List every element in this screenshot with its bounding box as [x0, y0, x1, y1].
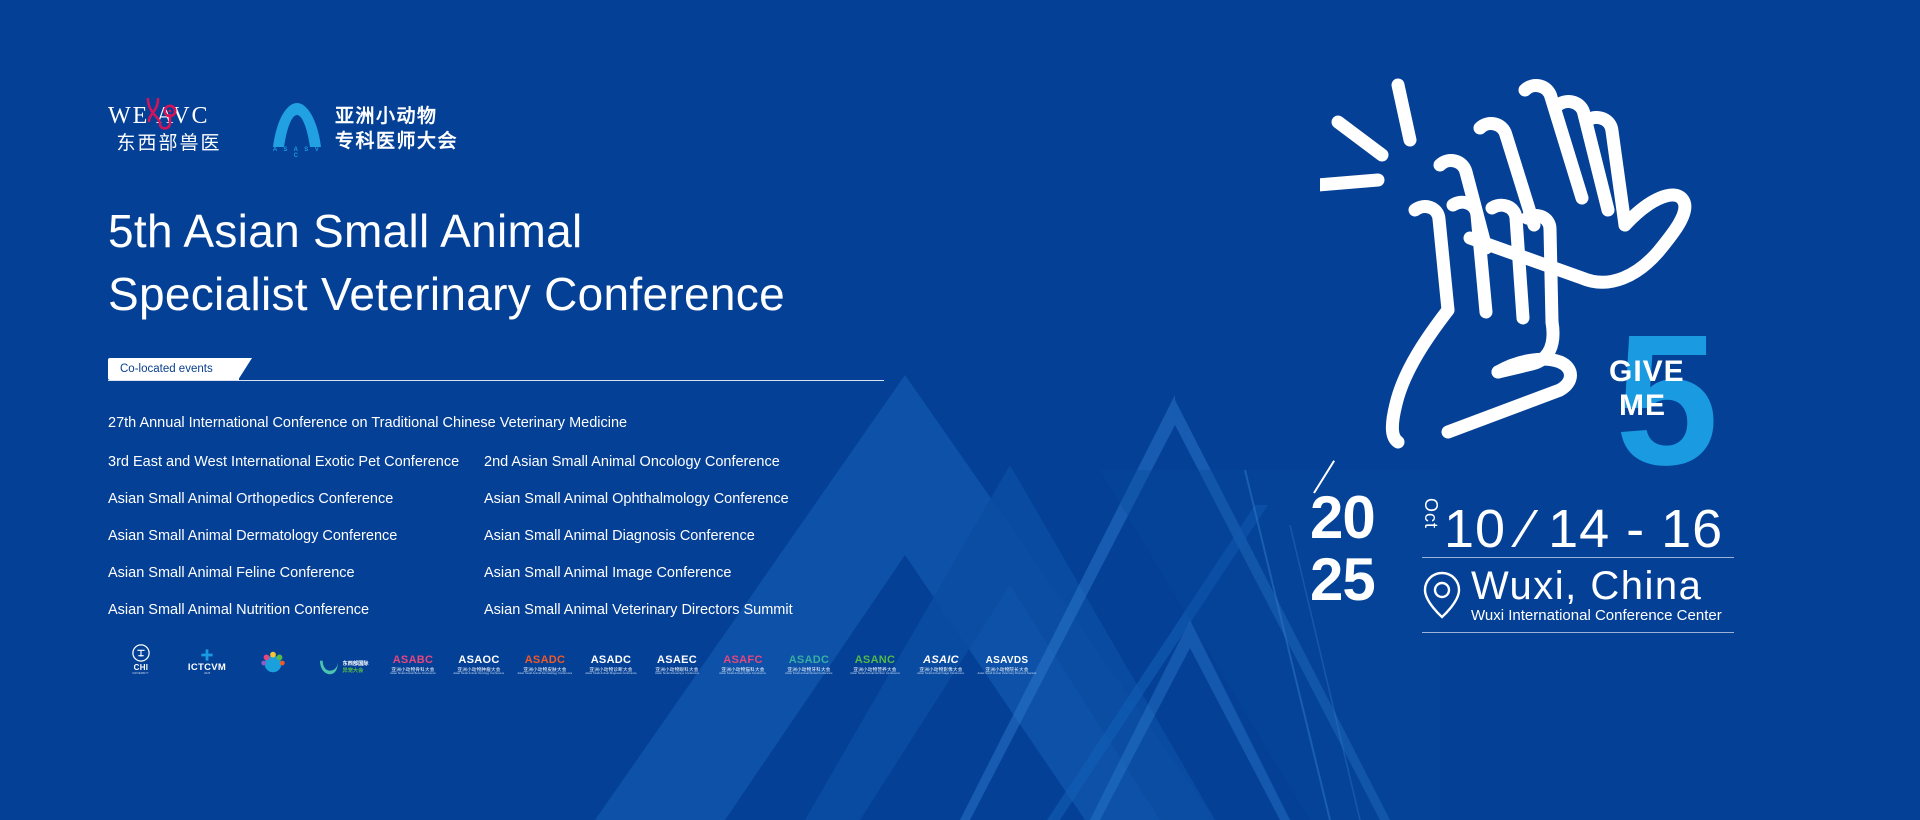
partner-acronym: ASANC [855, 655, 896, 666]
chi-seal-icon [132, 644, 150, 662]
partner-logo-asavds[interactable]: ASAVDS 亚洲小动物院长大会 Asian Small Animal Vete… [974, 640, 1040, 676]
tab-notch-shape [238, 358, 252, 380]
partner-acronym: ASAVDS [986, 656, 1029, 666]
me-text: ME [1605, 390, 1735, 422]
partner-en: Asian Small Animal Dermatology Conferenc… [518, 673, 573, 676]
partner-logo-row: CHI UNIVERSITY ICTCVM 2025 [108, 640, 1040, 676]
partner-en: Asian Small Animal Nutrition Conference [850, 673, 900, 676]
wesavc-wordmark-row: WE AVC [108, 101, 230, 131]
colocated-header: Co-located events [108, 358, 884, 390]
wesavc-chinese-name: 东西部兽医 [108, 131, 230, 157]
conference-item[interactable]: Asian Small Animal Diagnosis Conference [484, 526, 898, 563]
partner-en: Asian Small Animal Bone Conference [390, 673, 436, 676]
partner-acronym: ASABC [393, 655, 434, 666]
partner-acronym: ASAOC [458, 655, 499, 666]
partner-logo-asaec[interactable]: ASAEC 亚洲小动物眼科大会 Asian Small Animal Eye C… [644, 640, 710, 676]
title-line-1: 5th Asian Small Animal [108, 200, 785, 263]
partner-logo-asadc-derm[interactable]: ASADC 亚洲小动物皮肤大会 Asian Small Animal Derma… [512, 640, 578, 676]
conference-item[interactable]: Asian Small Animal Feline Conference [108, 563, 484, 600]
partner-en: Asian Small Animal Image Conference [918, 673, 965, 676]
conference-item[interactable]: Asian Small Animal Dermatology Conferenc… [108, 526, 484, 563]
partner-logo-asanc[interactable]: ASANC 亚洲小动物营养大会 Asian Small Animal Nutri… [842, 640, 908, 676]
partner-logo-asadc-dental[interactable]: ASADC 亚洲小动物牙科大会 Asian Small Animal Denta… [776, 640, 842, 676]
colocated-divider [108, 380, 884, 381]
partner-en: Asian Small Animal Feline Conference [720, 673, 767, 676]
wesavc-logo[interactable]: WE AVC 东西部兽医 [108, 101, 230, 157]
partner-en: Asian Small Animal Oncology Conference [454, 673, 505, 676]
give-text: GIVE [1605, 356, 1735, 388]
page-title: 5th Asian Small Animal Specialist Veteri… [108, 200, 785, 326]
partner-en: Asian Small Animal Dental Conference [785, 673, 832, 676]
colocated-tab-label: Co-located events [120, 358, 213, 380]
conference-item[interactable]: Asian Small Animal Orthopedics Conferenc… [108, 489, 484, 526]
partner-logo-asafc[interactable]: ASAFC 亚洲小动物猫科大会 Asian Small Animal Felin… [710, 640, 776, 676]
colorful-paw-circle-icon [260, 650, 286, 676]
partner-acronym: ASADC [789, 655, 830, 666]
list-item: Asian Small Animal Orthopedics Conferenc… [108, 489, 898, 526]
partner-acronym: ASADC [525, 655, 566, 666]
ictcvm-cross-icon [200, 648, 214, 662]
partner-subtitle: UNIVERSITY [133, 673, 149, 676]
conference-item[interactable]: Asian Small Animal Image Conference [484, 563, 898, 600]
partner-logo-ictcvm[interactable]: ICTCVM 2025 [174, 640, 240, 676]
list-item: 3rd East and West International Exotic P… [108, 452, 898, 489]
conference-list: 3rd East and West International Exotic P… [108, 452, 898, 637]
partner-logo-asabc[interactable]: ASABC 亚洲小动物骨科大会 Asian Small Animal Bone … [380, 640, 446, 676]
partner-acronym: ICTCVM [188, 663, 226, 673]
partner-cn-1: 东西部国际 [343, 660, 369, 667]
partner-year: 2025 [204, 673, 210, 676]
v-swoosh-icon [318, 658, 340, 676]
conference-item[interactable]: Asian Small Animal Veterinary Directors … [484, 600, 898, 637]
asasvc-mark-wrap: A S A S V C [270, 100, 324, 158]
partner-logo-paw[interactable] [240, 640, 306, 676]
partner-acronym: ASAEC [657, 655, 697, 666]
partner-en: Asian Small Animal Veterinary Directors … [978, 673, 1037, 676]
asasvc-mark-subtext: A S A S V C [270, 147, 324, 159]
partner-logo-exotic-pet[interactable]: 东西部国际 异宠大会 [306, 640, 380, 676]
give-me-5-badge: 5 GIVE ME [1605, 300, 1735, 480]
partner-en: Asian Small Animal Diagnosis Conference [585, 673, 636, 676]
partner-logo-asaic[interactable]: ASAIC 亚洲小动物影像大会 Asian Small Animal Image… [908, 640, 974, 676]
partner-acronym: ASADC [591, 655, 632, 666]
stethoscope-icon [141, 93, 183, 133]
list-item: Asian Small Animal Dermatology Conferenc… [108, 526, 898, 563]
partner-acronym: ASAFC [723, 655, 762, 666]
partner-acronym: ASAIC [923, 655, 959, 666]
partner-logo-asaoc[interactable]: ASAOC 亚洲小动物肿瘤大会 Asian Small Animal Oncol… [446, 640, 512, 676]
arch-a-mark-icon [270, 100, 324, 150]
asasvc-chinese-line1: 亚洲小动物 [335, 104, 458, 129]
list-item: Asian Small Animal Nutrition Conference … [108, 600, 898, 637]
list-item: Asian Small Animal Feline Conference Asi… [108, 563, 898, 600]
partner-acronym: CHI [134, 664, 149, 672]
colocated-tab[interactable]: Co-located events [108, 358, 239, 380]
left-content-column: WE AVC 东西部兽医 A S A S V C 亚洲小动物 专科医师大会 [108, 0, 1008, 820]
conference-featured-item[interactable]: 27th Annual International Conference on … [108, 413, 627, 433]
conference-item[interactable]: Asian Small Animal Nutrition Conference [108, 600, 484, 637]
asasvc-chinese-block: 亚洲小动物 专科医师大会 [335, 104, 458, 154]
asasvc-logo[interactable]: A S A S V C 亚洲小动物 专科医师大会 [270, 100, 458, 158]
title-line-2: Specialist Veterinary Conference [108, 263, 785, 326]
conference-item[interactable]: Asian Small Animal Ophthalmology Confere… [484, 489, 898, 526]
right-visual-column [1280, 0, 1920, 820]
conference-item[interactable]: 2nd Asian Small Animal Oncology Conferen… [484, 452, 898, 489]
conference-item[interactable]: 3rd East and West International Exotic P… [108, 452, 484, 489]
partner-logo-asadc-diag[interactable]: ASADC 亚洲小动物诊断大会 Asian Small Animal Diagn… [578, 640, 644, 676]
asasvc-chinese-line2: 专科医师大会 [335, 129, 458, 154]
partner-logo-chi[interactable]: CHI UNIVERSITY [108, 640, 174, 676]
partner-en: Asian Small Animal Eye Conference [655, 673, 699, 676]
logo-strip: WE AVC 东西部兽医 A S A S V C 亚洲小动物 专科医师大会 [108, 100, 458, 158]
partner-cn-2: 异宠大会 [343, 667, 369, 674]
